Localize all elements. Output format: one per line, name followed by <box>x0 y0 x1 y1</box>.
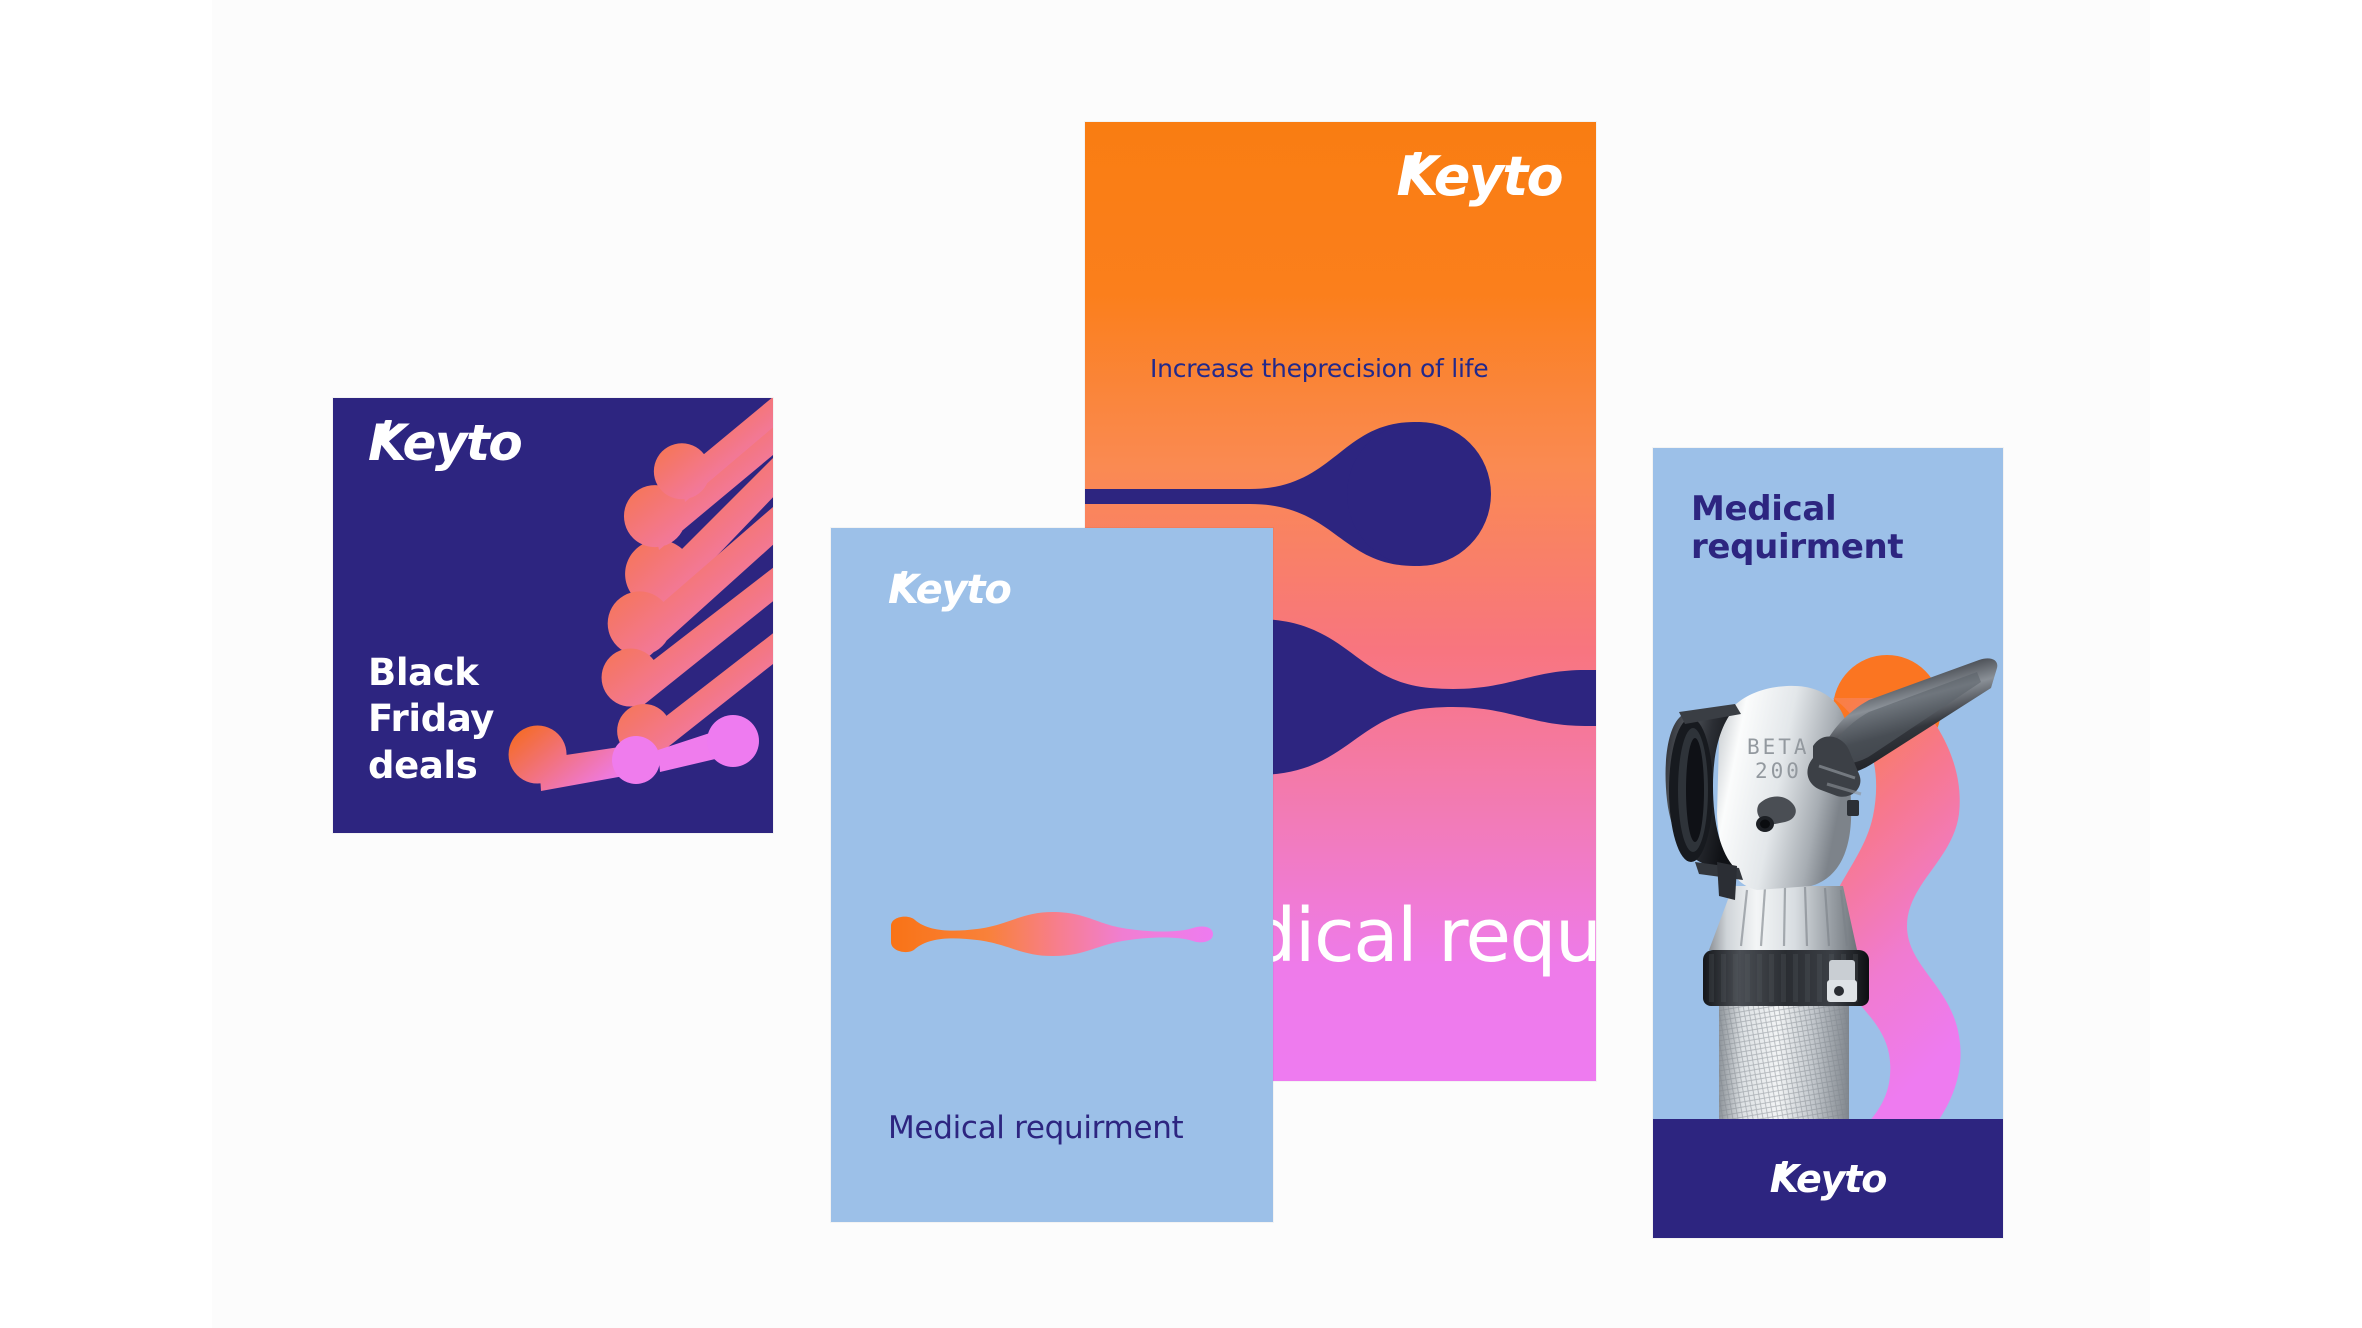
right-poster-footer-banner: Keyto <box>1653 1119 2003 1238</box>
keyto-logo-right-poster: Keyto <box>1770 1160 1886 1198</box>
black-friday-headline: Black Friday deals <box>368 650 494 789</box>
right-poster-title: Medical requirment <box>1691 490 1903 566</box>
poster-light-blue[interactable]: Keyto Medical requirment <box>831 528 1273 1222</box>
otoscope-device-image: BETA 200 <box>1661 654 2001 1124</box>
poster-right-product[interactable]: Medical requirment <box>1653 448 2003 1238</box>
keyto-logo-black-friday: Keyto <box>368 418 521 468</box>
poster-mockup-scene: Keyto Black Friday deals Keyto Increase … <box>0 0 2362 1328</box>
device-brand-text: BETA <box>1747 735 1810 759</box>
light-blue-poster-caption: Medical requirment <box>888 1110 1183 1146</box>
device-model-text: 200 <box>1755 759 1802 783</box>
keyto-logo-light-blue-poster: Keyto <box>888 570 1011 610</box>
poster-black-friday[interactable]: Keyto Black Friday deals <box>333 398 773 833</box>
light-blue-poster-blob-shape <box>881 908 1221 960</box>
